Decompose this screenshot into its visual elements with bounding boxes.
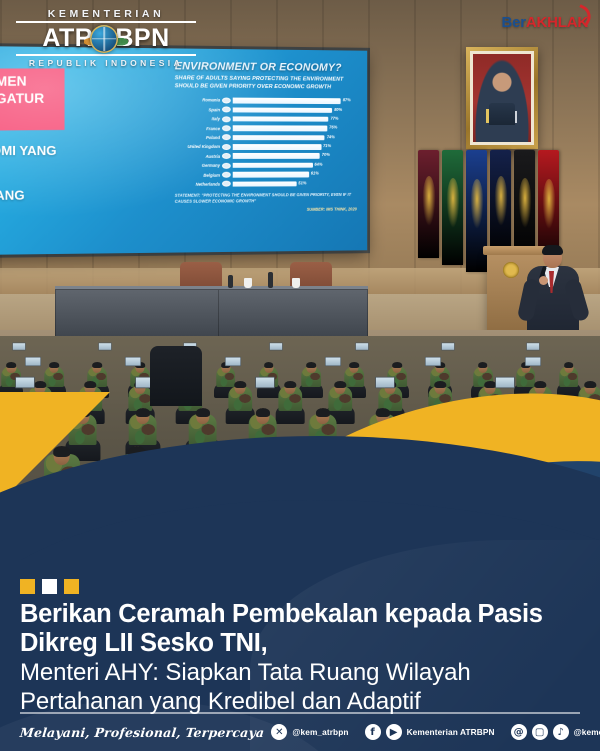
chart-bar-track: 51% (233, 181, 357, 187)
slide-pink-line-1: NG & MANAJEMEN (0, 72, 56, 90)
chart-bar-fill (233, 116, 329, 122)
accent-square-yellow (20, 579, 35, 594)
slide-pink-line-3: NGAN ANTARA (0, 107, 56, 126)
country-flag-icon (222, 116, 231, 122)
chart-bar-fill (233, 163, 313, 169)
chart-bar-track: 74% (233, 135, 357, 141)
slide-pink-block: NG & MANAJEMEN AN YANG MENGATUR NGAN ANT… (0, 68, 65, 131)
laptop (15, 376, 35, 387)
chart-bar-row: Austria70% (175, 152, 357, 161)
chart-bar-track: 76% (233, 126, 357, 132)
threads-icon[interactable]: @ (511, 724, 527, 740)
logo-wordmark: ATR BPN (16, 21, 196, 56)
laptop (25, 357, 41, 366)
chart-bar-fill (233, 107, 333, 113)
chart-bar-row: Germany64% (175, 161, 357, 171)
social-handle[interactable]: @kementerian.atrbpn (574, 727, 600, 737)
accent-squares (20, 579, 79, 594)
laptop (225, 357, 241, 366)
framed-officer-portrait (466, 47, 538, 149)
portrait-mat (470, 51, 534, 145)
social-media-poster: NG & MANAJEMEN AN YANG MENGATUR NGAN ANT… (0, 0, 600, 751)
country-flag-icon (222, 107, 231, 113)
chart-subtitle: SHARE OF ADULTS SAYING PROTECTING THE EN… (175, 74, 357, 91)
chart-bar-value: 76% (327, 125, 337, 130)
chart-bar-track: 64% (233, 163, 357, 169)
banner-flag (418, 150, 439, 258)
chart-bar-track: 71% (233, 144, 357, 150)
footer-bar: Melayani, Profesional, Terpercaya ✕@kem_… (20, 719, 586, 745)
chart-bar-label: Spain (175, 107, 222, 112)
tagline: Melayani, Profesional, Terpercaya (19, 725, 265, 740)
chart-bar-label: Italy (175, 116, 222, 121)
photographer (150, 346, 202, 406)
laptop (525, 357, 541, 366)
environment-economy-chart: ENVIRONMENT OR ECONOMY? SHARE OF ADULTS … (170, 56, 362, 247)
chart-bar-label: Belgium (175, 172, 222, 177)
chart-bar-value: 80% (332, 107, 342, 112)
chart-bar-value: 71% (321, 143, 331, 148)
chart-title: ENVIRONMENT OR ECONOMY? (175, 60, 357, 74)
slide-white-line-1: GUNAN EKONOMI YANG DILAN (0, 143, 72, 176)
social-handle[interactable]: @kem_atrbpn (292, 727, 348, 737)
chart-bar-value: 77% (329, 116, 339, 121)
chart-bars: Romania87%Spain80%Italy77%France76%Polan… (175, 95, 357, 189)
x-twitter-icon[interactable]: ✕ (271, 724, 287, 740)
footer-divider (20, 712, 580, 714)
country-flag-icon (222, 135, 231, 141)
chart-bar-label: Austria (175, 154, 222, 159)
laptop (255, 376, 275, 387)
chart-bar-row: France76% (175, 124, 357, 134)
front-desk (218, 286, 368, 338)
headline-line-3: Menteri AHY: Siapkan Tata Ruang Wilayah (20, 659, 580, 687)
chart-bar-fill (233, 172, 309, 178)
laptop (125, 357, 141, 366)
chart-bar-track: 80% (233, 107, 357, 113)
chart-bar-row: United Kingdom71% (175, 142, 357, 151)
facebook-icon[interactable]: f (365, 724, 381, 740)
accent-square-yellow (64, 579, 79, 594)
podium-emblem-icon (503, 262, 519, 278)
slide-text-left: NG & MANAJEMEN AN YANG MENGATUR NGAN ANT… (0, 45, 168, 256)
chart-bar-value: 51% (296, 180, 306, 185)
speaker-hand (539, 276, 548, 285)
ministry-logo: KEMENTERIAN ATR BPN REPUBLIK INDONESIA (16, 8, 196, 68)
drink-cup (292, 278, 300, 288)
chart-bar-label: France (175, 126, 222, 131)
country-flag-icon (222, 172, 231, 178)
youtube-icon[interactable]: ▶ (386, 724, 402, 740)
portrait-caption-plate (473, 132, 531, 140)
chart-bar-label: Romania (175, 98, 222, 103)
chart-bar-value: 61% (309, 171, 319, 176)
country-flag-icon (222, 181, 231, 187)
banner-flag (442, 150, 463, 265)
country-flag-icon (222, 97, 231, 103)
water-bottle (268, 272, 273, 288)
laptop (325, 357, 341, 366)
country-flag-icon (222, 144, 231, 150)
chart-statement: STATEMENT: "PROTECTING THE ENVIRONMENT S… (175, 192, 357, 205)
chart-bar-value: 64% (313, 162, 323, 167)
slide-white-line-2: NGAN HIDUP YANG NJUTAN (0, 188, 72, 222)
chart-bar-value: 74% (325, 134, 335, 139)
chart-bar-label: Germany (175, 163, 222, 168)
slide-pink-line-2: AN YANG MENGATUR (0, 90, 56, 108)
headline-block: Berikan Ceramah Pembekalan kepada Pasis … (20, 600, 580, 716)
chart-bar-fill (233, 153, 320, 159)
banner-flag (490, 150, 511, 258)
chart-bar-fill (233, 126, 328, 132)
chart-bar-track: 70% (233, 153, 357, 159)
laptop (425, 357, 441, 366)
chart-bar-fill (233, 144, 321, 150)
projection-screen: NG & MANAJEMEN AN YANG MENGATUR NGAN ANT… (0, 45, 367, 256)
laptop (495, 376, 515, 387)
country-flag-icon (222, 153, 231, 159)
portrait-image (473, 54, 531, 142)
drink-cup (244, 278, 252, 288)
chart-bar-row: Netherlands51% (175, 179, 357, 189)
tiktok-icon[interactable]: ♪ (553, 724, 569, 740)
chart-bar-label: United Kingdom (175, 144, 222, 149)
laptop (375, 376, 395, 387)
speaker-hair (542, 245, 563, 255)
chart-bar-fill (233, 98, 341, 104)
chart-bar-track: 61% (233, 172, 357, 178)
headline-line-1: Berikan Ceramah Pembekalan kepada Pasis (20, 600, 580, 629)
social-links: ✕@kem_atrbpnf▶Kementerian ATRBPN@▢♪@keme… (271, 724, 600, 740)
berakhlak-logo: BerAKHLAK (501, 14, 588, 31)
accent-square-white (42, 579, 57, 594)
globe-icon (90, 25, 118, 53)
logo-kementerian-text: KEMENTERIAN (16, 8, 196, 20)
chart-bar-value: 87% (341, 97, 351, 102)
instagram-icon[interactable]: ▢ (532, 724, 548, 740)
logo-republik-indonesia-text: REPUBLIK INDONESIA (16, 58, 196, 68)
berakhlak-ber-text: Ber (501, 14, 525, 31)
chart-bar-row: Italy77% (175, 114, 357, 124)
chart-bar-fill (233, 135, 325, 141)
country-flag-icon (222, 163, 231, 169)
chart-bar-row: Poland74% (175, 133, 357, 143)
chart-bar-value: 70% (320, 152, 330, 157)
chart-bar-track: 87% (233, 98, 357, 104)
headline-line-2: Dikreg LII Sesko TNI, (20, 629, 580, 658)
water-bottle (228, 275, 233, 288)
chart-source: SUMBER: IMS THINK, 2020 (175, 207, 357, 213)
chart-bar-label: Netherlands (175, 182, 222, 187)
chart-bar-label: Poland (175, 135, 222, 140)
country-flag-icon (222, 125, 231, 131)
social-handle[interactable]: Kementerian ATRBPN (407, 727, 495, 737)
chart-bar-fill (233, 181, 297, 187)
chart-bar-track: 77% (233, 116, 357, 122)
